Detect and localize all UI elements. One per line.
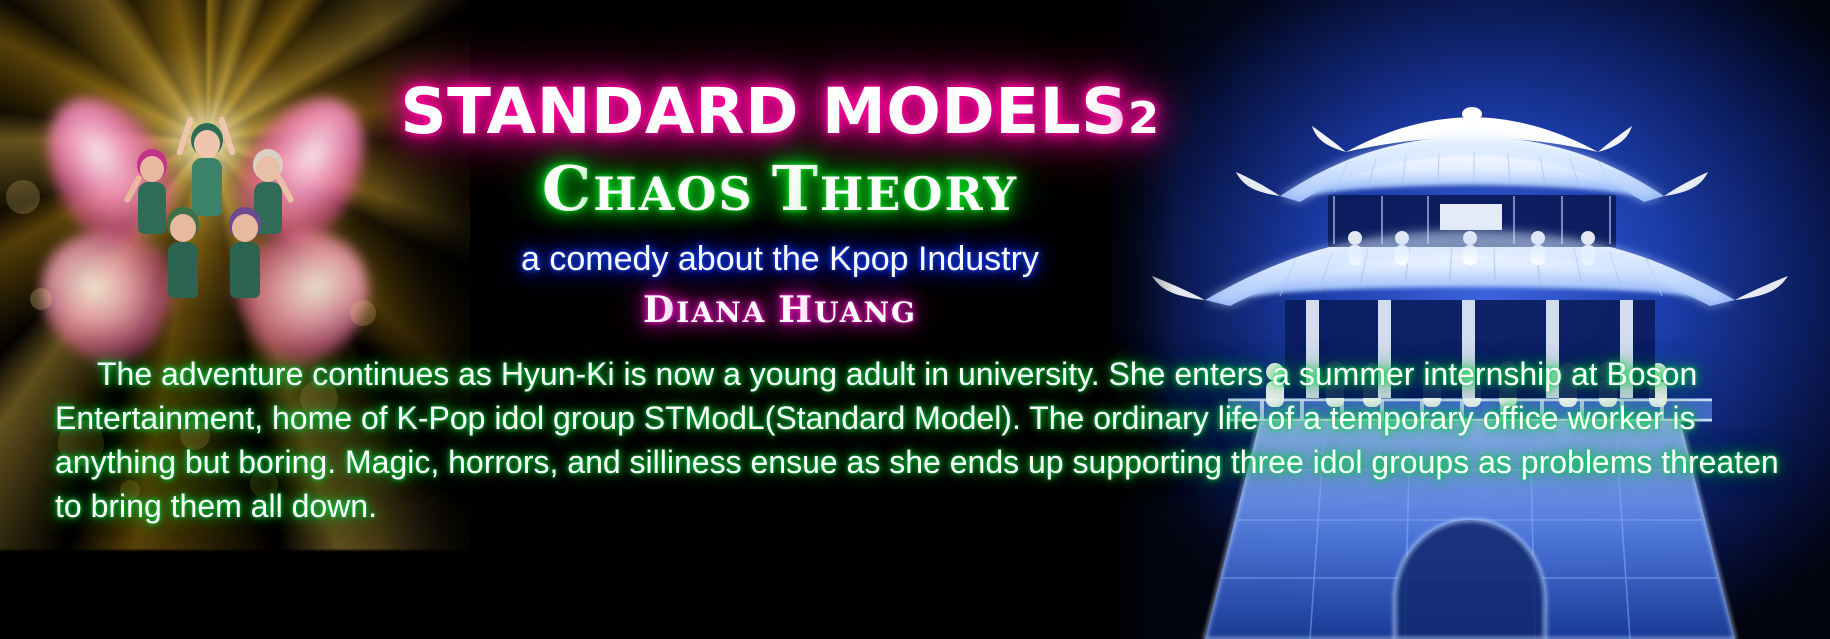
author-iana: IANA xyxy=(676,296,778,329)
author-cap-h: H xyxy=(778,289,814,331)
blurb-paragraph: The adventure continues as Hyun-Ki is no… xyxy=(55,352,1785,528)
book-banner: STANDARD MODELS2 CHAOS THEORY a comedy a… xyxy=(0,0,1830,639)
author-cap-d: D xyxy=(643,289,676,331)
main-title-words: STANDARD MODELS xyxy=(400,75,1128,148)
main-title: STANDARD MODELS2 xyxy=(372,80,1188,143)
subtitle-title: CHAOS THEORY xyxy=(380,158,1180,220)
author-uang: UANG xyxy=(814,296,917,329)
subtitle-heory: HEORY xyxy=(820,167,1018,221)
subtitle-cap-t: T xyxy=(772,152,820,225)
tagline: a comedy about the Kpop Industry xyxy=(380,242,1180,276)
banner-text-stack: STANDARD MODELS2 CHAOS THEORY a comedy a… xyxy=(0,0,1830,639)
main-title-number: 2 xyxy=(1128,93,1160,144)
subtitle-haos: HAOS xyxy=(593,167,771,221)
author-name: DIANA HUANG xyxy=(380,292,1180,328)
subtitle-cap-c: C xyxy=(542,152,593,225)
